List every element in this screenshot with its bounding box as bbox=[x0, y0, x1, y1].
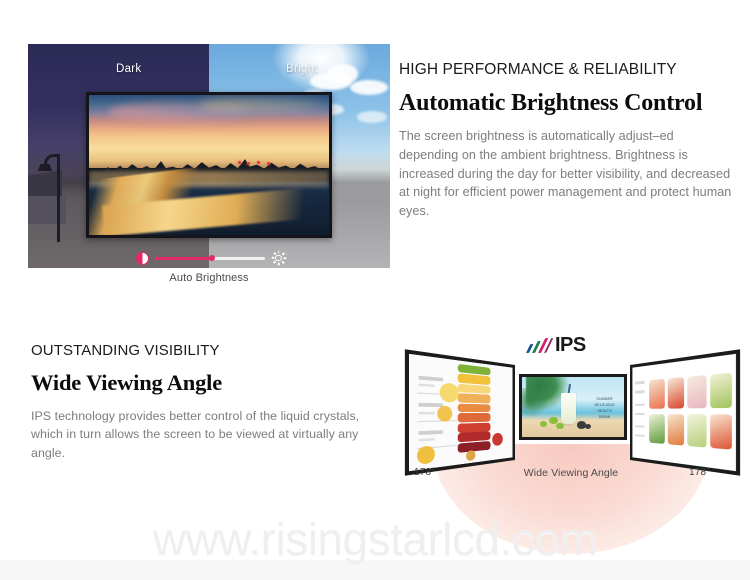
auto-brightness-illustration: Dark Bright bbox=[28, 44, 390, 268]
slider-track[interactable] bbox=[155, 257, 265, 260]
wide-viewing-angle-illustration: IPS bbox=[406, 330, 736, 515]
angle-label-right: 178° bbox=[689, 467, 710, 478]
overlay-line-4: DRINK bbox=[589, 415, 620, 421]
screen-beacon-light bbox=[238, 161, 241, 164]
display-panel-right bbox=[630, 349, 740, 475]
display-panel-left bbox=[405, 349, 515, 475]
brightness-body: The screen brightness is automatically a… bbox=[399, 127, 735, 221]
boat-silhouette bbox=[28, 196, 66, 224]
viewing-angle-eyebrow: OUTSTANDING VISIBILITY bbox=[31, 341, 361, 361]
contrast-icon bbox=[136, 252, 149, 265]
brightness-headline: Automatic Brightness Control bbox=[399, 90, 735, 116]
panel-art-beach: SUMMER DELICIOUS HEALTH DRINK bbox=[522, 377, 624, 437]
label-dark: Dark bbox=[116, 63, 141, 75]
palm-leaves bbox=[519, 388, 549, 418]
brightness-text-block: HIGH PERFORMANCE & RELIABILITY Automatic… bbox=[399, 60, 735, 221]
viewing-angle-body: IPS technology provides better control o… bbox=[31, 407, 361, 463]
ips-logo: IPS bbox=[526, 334, 586, 356]
slider-handle[interactable] bbox=[209, 255, 215, 261]
cloud-icon bbox=[328, 64, 358, 84]
sun-core bbox=[275, 255, 282, 262]
product-feature-page: Dark Bright bbox=[0, 0, 750, 580]
brightness-slider[interactable] bbox=[136, 250, 286, 266]
display-panel-center: SUMMER DELICIOUS HEALTH DRINK bbox=[519, 374, 627, 440]
panel-art-menu-board bbox=[409, 354, 513, 471]
panel-frame bbox=[405, 349, 515, 475]
street-lamp-icon bbox=[57, 156, 60, 242]
brightness-sun-icon bbox=[271, 251, 286, 266]
slider-fill bbox=[155, 257, 212, 260]
viewing-angle-headline: Wide Viewing Angle bbox=[31, 371, 361, 396]
ips-logo-text: IPS bbox=[555, 334, 586, 357]
cloud-icon bbox=[357, 111, 387, 123]
screen-beacon-light bbox=[257, 161, 260, 164]
ips-stripes-icon bbox=[526, 337, 553, 353]
drink-glass bbox=[561, 393, 576, 424]
viewing-angle-text-block: OUTSTANDING VISIBILITY Wide Viewing Angl… bbox=[31, 341, 361, 463]
wide-viewing-angle-caption: Wide Viewing Angle bbox=[406, 467, 736, 479]
label-bright: Bright bbox=[286, 63, 318, 75]
brightness-eyebrow: HIGH PERFORMANCE & RELIABILITY bbox=[399, 60, 735, 81]
panel-overlay-text: SUMMER DELICIOUS HEALTH DRINK bbox=[589, 397, 620, 420]
food-stack bbox=[457, 362, 490, 462]
auto-brightness-caption: Auto Brightness bbox=[28, 272, 390, 284]
panel-frame bbox=[630, 349, 740, 475]
display-panel-preview bbox=[86, 92, 332, 238]
site-watermark: www.risingstarlcd.com bbox=[0, 498, 750, 580]
cloud-icon bbox=[350, 80, 388, 95]
screen-beacon-light bbox=[267, 162, 270, 165]
panel-art-food-grid bbox=[632, 354, 736, 471]
panel-frame: SUMMER DELICIOUS HEALTH DRINK bbox=[519, 374, 627, 440]
